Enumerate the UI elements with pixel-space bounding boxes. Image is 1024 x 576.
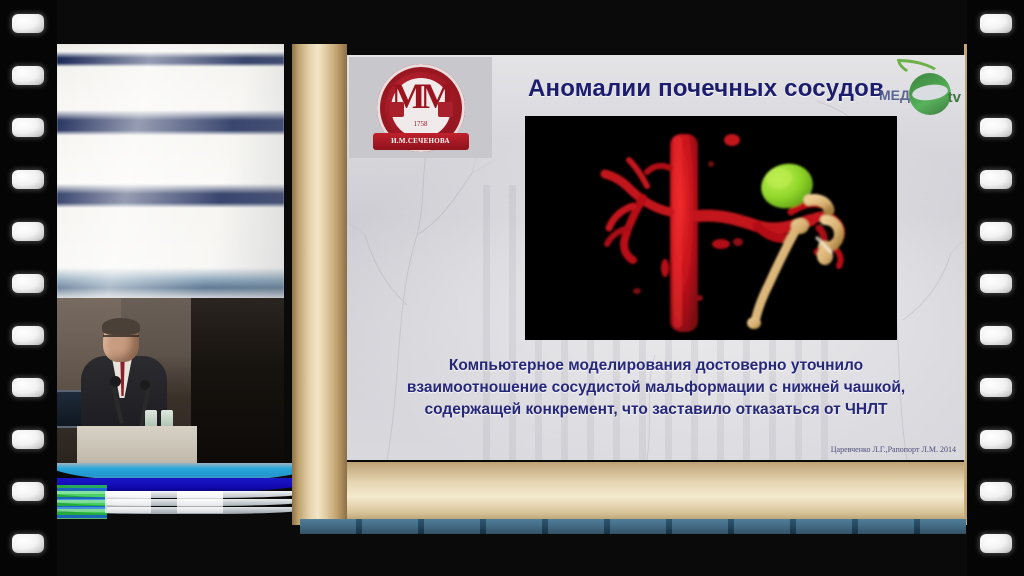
film-right-sprocket <box>980 534 1012 553</box>
microphone-head-left <box>110 376 121 387</box>
film-left-sprocket <box>12 482 44 501</box>
caption-line-1: Компьютерное моделирования достоверно ут… <box>367 355 945 377</box>
caption-line-3: содержащей конкремент, что заставило отк… <box>367 399 945 421</box>
film-left-sprocket <box>12 170 44 189</box>
3d-ct-angiography-render[interactable] <box>525 116 897 340</box>
desk-led-accent <box>57 485 107 519</box>
film-left-sprocket <box>12 14 44 33</box>
slide-credit: Царевченко Л.Г.,Рапопорт Л.М. 2014 <box>831 445 956 454</box>
auditorium-scene <box>57 298 284 463</box>
film-right-sprocket <box>980 118 1012 137</box>
caption-line-2: взаимоотношение сосудистой мальформации … <box>367 377 945 399</box>
stage-curtain-right <box>191 298 284 463</box>
speaker-hair <box>102 318 140 335</box>
lectern <box>77 426 197 463</box>
film-right-sprocket <box>980 482 1012 501</box>
university-logo-container: ММ 1758 И.М.СЕЧЕНОВА <box>349 57 492 158</box>
film-right-sprocket <box>980 430 1012 449</box>
film-left-sprocket <box>12 326 44 345</box>
film-left-sprocket <box>12 534 44 553</box>
set-blue-strip <box>300 519 966 534</box>
film-left-sprocket <box>12 430 44 449</box>
film-left-sprocket <box>12 274 44 293</box>
broadcast-frame: ММ 1758 И.М.СЕЧЕНОВА Аномалии почечных с… <box>0 0 1024 576</box>
desk-highlight-2 <box>177 491 223 513</box>
sechenov-university-emblem: ММ 1758 И.М.СЕЧЕНОВА <box>377 64 465 152</box>
film-right-sprocket <box>980 326 1012 345</box>
film-left-sprocket <box>12 222 44 241</box>
presenter-video-feed[interactable] <box>57 44 284 463</box>
microphone-head-right <box>140 380 150 390</box>
striped-wall-backdrop <box>57 44 284 298</box>
film-right-sprocket <box>980 66 1012 85</box>
logo-text-right: tv <box>948 89 961 106</box>
set-gold-band <box>292 462 974 525</box>
med-tv-watermark: МЕД tv <box>879 57 961 119</box>
logo-text-left: МЕД <box>879 87 910 103</box>
studio-desk <box>57 463 307 525</box>
film-right-sprocket <box>980 274 1012 293</box>
film-right-sprocket <box>980 222 1012 241</box>
film-strip-left <box>0 0 57 576</box>
film-left-sprocket <box>12 66 44 85</box>
film-strip-right <box>967 0 1024 576</box>
emblem-ribbon-text: И.М.СЕЧЕНОВА <box>373 133 469 150</box>
logo-green-sphere <box>909 73 951 115</box>
film-left-sprocket <box>12 378 44 397</box>
film-right-sprocket <box>980 14 1012 33</box>
emblem-book-left <box>389 102 404 117</box>
film-right-sprocket <box>980 378 1012 397</box>
emblem-year: 1758 <box>377 120 465 128</box>
slide-caption: Компьютерное моделирования достоверно ут… <box>367 355 945 421</box>
desk-highlight-1 <box>105 491 151 513</box>
film-right-sprocket <box>980 170 1012 189</box>
film-left-sprocket <box>12 118 44 137</box>
speaker-glasses <box>103 335 139 341</box>
presentation-slide[interactable]: ММ 1758 И.М.СЕЧЕНОВА Аномалии почечных с… <box>347 55 965 460</box>
emblem-book-right <box>438 102 453 117</box>
set-gold-pillar-left <box>292 44 347 525</box>
